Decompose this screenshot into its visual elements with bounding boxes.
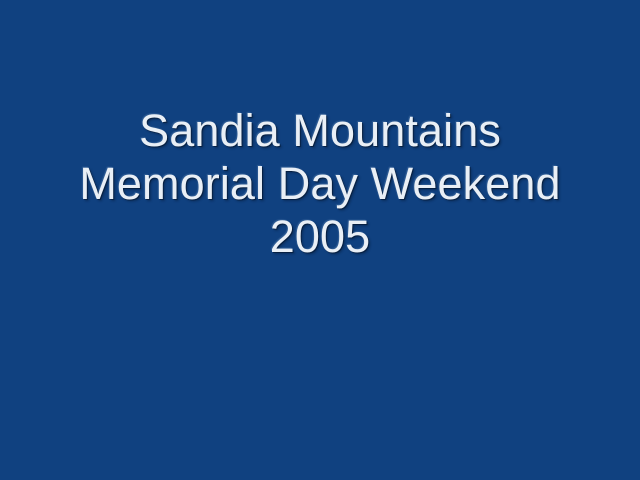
video-title-card: Sandia Mountains Memorial Day Weekend 20… (0, 0, 640, 480)
title-line-occasion: Memorial Day Weekend (0, 157, 640, 210)
title-line-year: 2005 (0, 210, 640, 263)
title-line-subject: Sandia Mountains (0, 104, 640, 157)
title-block: Sandia Mountains Memorial Day Weekend 20… (0, 104, 640, 263)
